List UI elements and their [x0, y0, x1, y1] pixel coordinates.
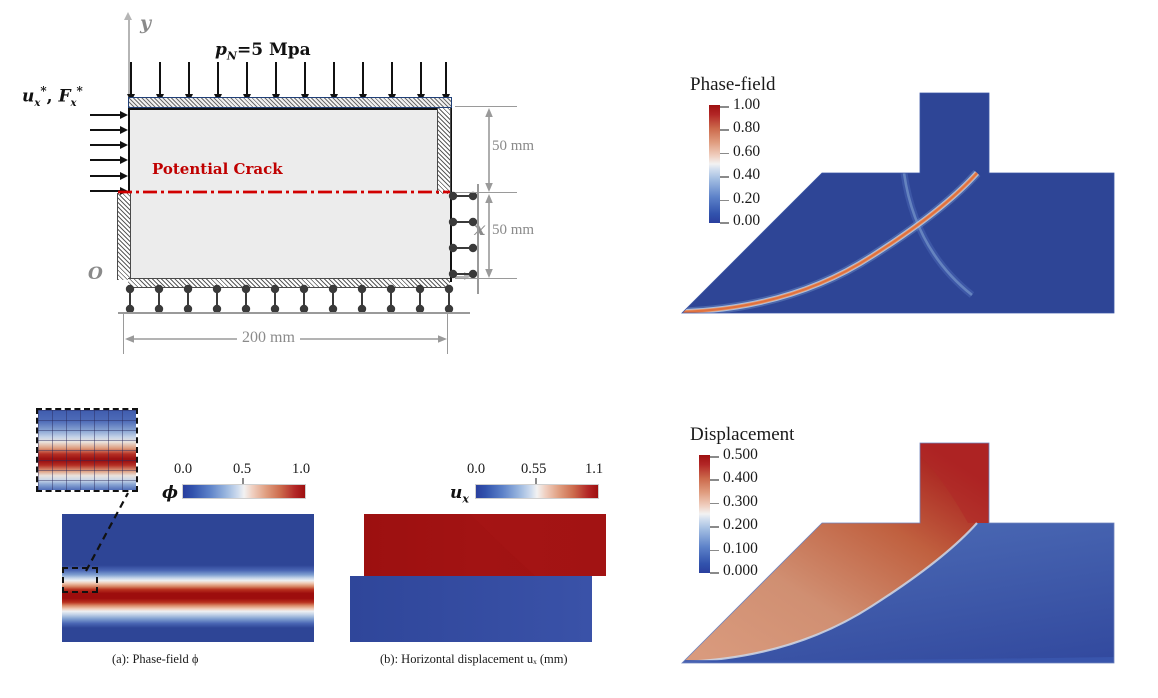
- panel-a-caption: (a): Phase-field ϕ: [112, 652, 198, 667]
- panel-a-mesh-grid: [38, 410, 136, 490]
- panel-b-tick-1: 0.55: [521, 461, 546, 478]
- ux-colorbar-symbol-sub: x: [462, 492, 469, 505]
- panel-b-colorbar-midtick: [535, 478, 537, 484]
- pressure-equals: =: [237, 40, 251, 60]
- panel-a-tick-0: 0.0: [174, 461, 192, 478]
- panel-b-tick-2: 1.1: [585, 461, 603, 478]
- potential-crack-label: Potential Crack: [152, 160, 283, 178]
- panel-a-colorbar: [182, 484, 306, 499]
- panel-a-colorbar-midtick: [242, 478, 244, 484]
- y-axis-label: y: [140, 12, 151, 34]
- top-load-strip: [128, 97, 452, 108]
- origin-label: O: [88, 264, 103, 284]
- panel-b-caption: (b): Horizontal displacement uₓ (mm): [380, 652, 568, 667]
- panel-b-field-plot: [350, 514, 620, 642]
- left-boundary-condition-label: ux*, Fx*: [22, 84, 83, 109]
- schematic-panel: y x O pN=5 Mpa ux*, Fx*: [0, 0, 560, 370]
- left-support-hatch: [117, 193, 131, 280]
- pressure-value: 5 Mpa: [251, 40, 310, 60]
- ux-subscript: x: [34, 98, 40, 109]
- slope-phase-field-contour: [672, 60, 1158, 360]
- panel-a-phase-field: ϕ 0.0 0.5 1.0 (a): Phase-field ϕ: [20, 400, 330, 690]
- ux-symbol: u: [22, 87, 34, 107]
- ux-colorbar-symbol: ux: [450, 483, 469, 505]
- panel-a-tick-2: 1.0: [292, 461, 310, 478]
- dim-label-lower: 50 mm: [492, 222, 534, 239]
- dim-label-width: 200 mm: [237, 329, 300, 347]
- pressure-subscript: N: [227, 49, 237, 62]
- panel-b-colorbar: [475, 484, 599, 499]
- slope-displacement-panel: Displacement 0.500 0.400 0.300 0.200 0.1…: [672, 410, 1158, 690]
- panel-a-mesh-inset: [36, 408, 138, 492]
- fx-subscript: x: [71, 98, 77, 109]
- right-support-hatch: [437, 108, 451, 194]
- y-axis-arrow: [124, 12, 132, 20]
- ux-colorbar-symbol-text: u: [450, 483, 462, 503]
- panel-a-tick-1: 0.5: [233, 461, 251, 478]
- panel-a-leader-line: [60, 485, 170, 575]
- panel-b-displacement: ux 0.0 0.55 1.1 (b): Horizontal displace…: [340, 400, 660, 690]
- dim-label-upper: 50 mm: [492, 138, 534, 155]
- slope-phase-field-panel: Phase-field 1.00 0.80 0.60 0.40 0.20 0.0…: [672, 60, 1158, 360]
- fx-star: *: [77, 84, 83, 98]
- slope-displacement-contour: [672, 410, 1158, 690]
- panel-b-tick-0: 0.0: [467, 461, 485, 478]
- potential-crack-line: [118, 188, 450, 196]
- pressure-symbol: p: [215, 40, 227, 60]
- fx-symbol: F: [58, 87, 70, 107]
- pressure-load-label: pN=5 Mpa: [215, 40, 311, 62]
